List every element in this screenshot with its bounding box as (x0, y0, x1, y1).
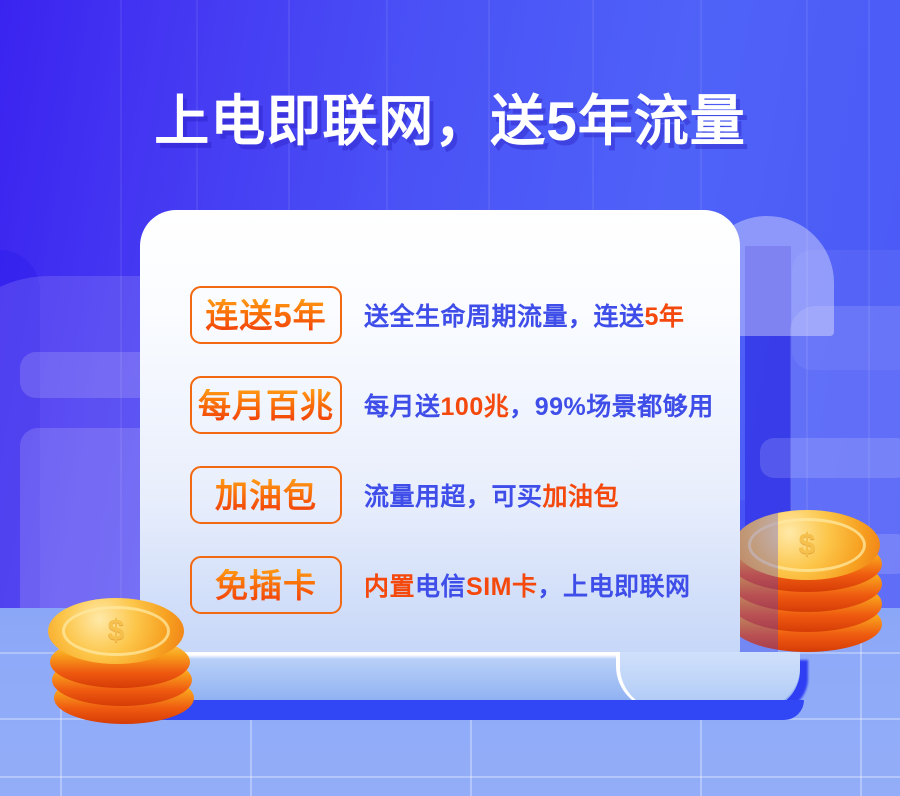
feature-tag-label: 每月百兆 (198, 389, 334, 422)
desc-part-highlight: 加油包 (543, 483, 620, 511)
feature-tag-label: 连送5年 (205, 299, 326, 332)
feature-row: 免插卡 内置电信SIM卡，上电即联网 (190, 554, 720, 616)
feature-description: 送全生命周期流量，连送5年 (364, 297, 684, 333)
desc-part: 送全生命周期流量，连送 (364, 303, 645, 331)
page-title: 上电即联网，送5年流量 (0, 76, 900, 156)
desc-part: 每月送 (364, 393, 441, 421)
feature-tag: 连送5年 (190, 286, 342, 344)
feature-row: 连送5年 送全生命周期流量，连送5年 (190, 284, 720, 346)
desc-part-highlight: 内置 (364, 573, 415, 601)
desc-part: 流量用超，可买 (364, 483, 543, 511)
feature-tag-label: 加油包 (215, 479, 317, 512)
feature-tag: 加油包 (190, 466, 342, 524)
desc-part: ，99%场景都够用 (509, 393, 714, 421)
desc-part: ，上电即联网 (537, 573, 690, 601)
feature-description: 流量用超，可买加油包 (364, 477, 619, 513)
feature-row: 每月百兆 每月送100兆，99%场景都够用 (190, 374, 720, 436)
bg-block-right-top (792, 250, 900, 370)
promo-banner: 上电即联网，送5年流量 $ 连送5年 送全生命周期流量，连送5年 (0, 0, 900, 796)
feature-list: 连送5年 送全生命周期流量，连送5年 每月百兆 每月送100兆，99%场景都够用… (190, 284, 720, 644)
bg-bar-right-1 (760, 438, 900, 478)
card-pedestal-shadow (104, 700, 804, 720)
coin-stack-right: $ (732, 510, 882, 660)
feature-tag: 每月百兆 (190, 376, 342, 434)
feature-row: 加油包 流量用超，可买加油包 (190, 464, 720, 526)
desc-part-highlight: 5年 (645, 303, 685, 331)
floor-grid-line (0, 776, 900, 778)
feature-description: 内置电信SIM卡，上电即联网 (364, 567, 691, 603)
desc-part-highlight: 100兆 (441, 393, 510, 421)
floor-grid-line (860, 642, 862, 796)
feature-tag-label: 免插卡 (215, 569, 317, 602)
coin-stack-left: $ (48, 598, 188, 738)
feature-tag: 免插卡 (190, 556, 342, 614)
feature-description: 每月送100兆，99%场景都够用 (364, 387, 714, 423)
desc-part: 电信 (415, 573, 466, 601)
desc-part-highlight: SIM卡 (466, 573, 537, 601)
